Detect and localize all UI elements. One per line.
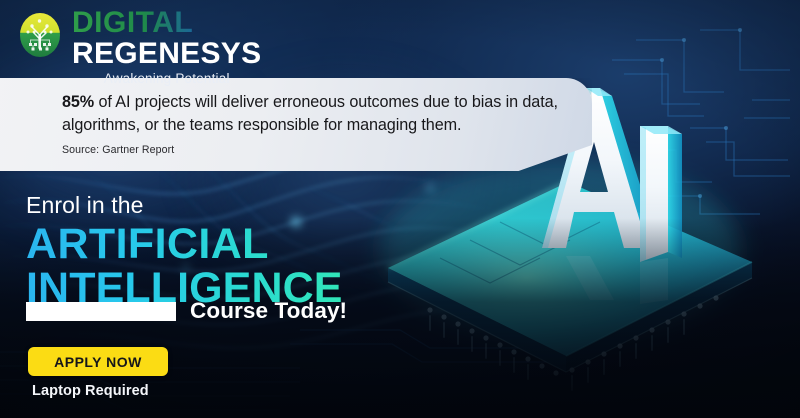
brand-name-line2: REGENESYS bbox=[72, 39, 261, 69]
statistic-panel-content: 85% of AI projects will deliver erroneou… bbox=[20, 78, 600, 171]
laptop-required-note: Laptop Required bbox=[32, 383, 149, 399]
statistic-source: Source: Gartner Report bbox=[62, 144, 600, 156]
brand-tagline: Awakening Potential bbox=[72, 72, 261, 86]
white-placeholder-bar bbox=[26, 302, 176, 321]
headline-group: Enrol in the ARTIFICIAL INTELLIGENCE bbox=[26, 192, 343, 311]
statistic-text: 85% of AI projects will deliver erroneou… bbox=[62, 91, 592, 137]
statistic-body: of AI projects will deliver erroneous ou… bbox=[62, 93, 558, 134]
brand-wordmark: DIGITAL REGENESYS Awakening Potential bbox=[72, 8, 261, 86]
brand-logo[interactable]: DIGITAL REGENESYS Awakening Potential bbox=[16, 8, 261, 86]
course-today-label: Course Today! bbox=[190, 298, 347, 324]
headline-line-1: ARTIFICIAL bbox=[26, 222, 343, 266]
ai-course-promo-banner: DIGITAL REGENESYS Awakening Potential 85… bbox=[0, 0, 800, 418]
statistic-value: 85% bbox=[62, 93, 94, 111]
course-today-row: Course Today! bbox=[26, 298, 347, 324]
headline-kicker: Enrol in the bbox=[26, 192, 343, 219]
tree-in-circle-logo-icon bbox=[16, 10, 64, 60]
apply-now-button[interactable]: APPLY NOW bbox=[28, 347, 168, 376]
brand-name-line1: DIGITAL bbox=[72, 8, 261, 38]
